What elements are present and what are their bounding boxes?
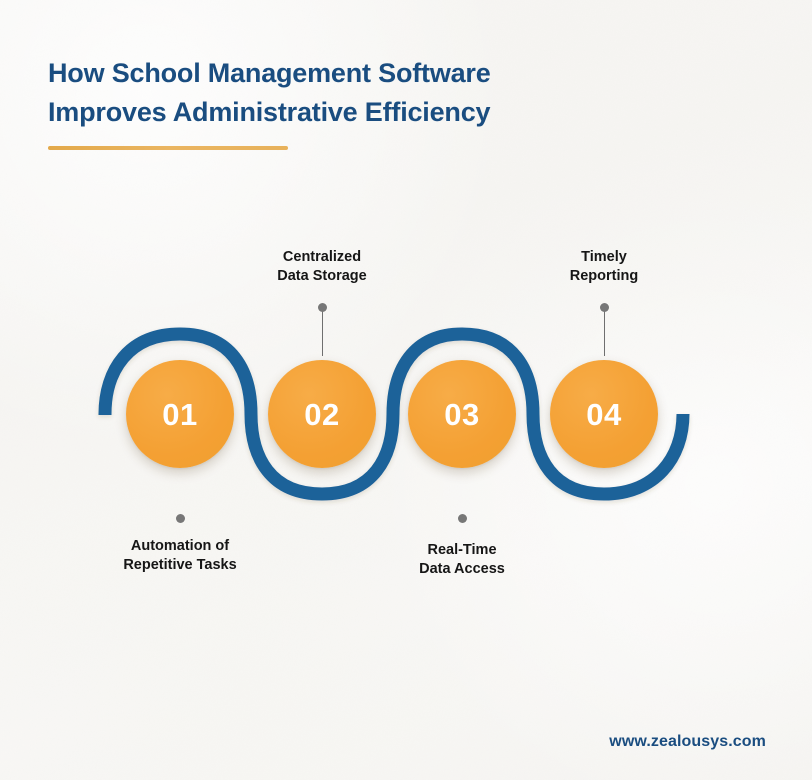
process-flow-diagram: 01 02 03 04 Automation of Repetitive Tas… xyxy=(0,230,812,610)
step-label-3-line-2: Data Access xyxy=(357,560,567,579)
step-label-2: Centralized Data Storage xyxy=(217,248,427,286)
step-number-3: 03 xyxy=(444,399,479,430)
step-number-1: 01 xyxy=(162,399,197,430)
step-label-1: Automation of Repetitive Tasks xyxy=(75,537,285,575)
step-number-2: 02 xyxy=(304,399,339,430)
step-label-4-line-2: Reporting xyxy=(499,267,709,286)
connector-dot-step-4 xyxy=(600,303,609,312)
step-circle-2[interactable]: 02 xyxy=(268,360,376,468)
step-label-3-line-1: Real-Time xyxy=(357,541,567,560)
footer-website-url[interactable]: www.zealousys.com xyxy=(609,733,766,751)
connector-dot-step-1 xyxy=(176,514,185,523)
infographic-canvas: How School Management Software Improves … xyxy=(0,0,812,780)
title-underline-rule xyxy=(48,146,288,150)
page-title-line-1: How School Management Software xyxy=(48,54,668,93)
connector-dot-step-2 xyxy=(318,303,327,312)
step-circle-1[interactable]: 01 xyxy=(126,360,234,468)
connector-line-step-4 xyxy=(604,308,605,356)
step-circle-3[interactable]: 03 xyxy=(408,360,516,468)
header: How School Management Software Improves … xyxy=(48,54,668,150)
step-label-2-line-2: Data Storage xyxy=(217,267,427,286)
step-number-4: 04 xyxy=(586,399,621,430)
step-circle-4[interactable]: 04 xyxy=(550,360,658,468)
connector-dot-step-3 xyxy=(458,514,467,523)
page-title-line-2: Improves Administrative Efficiency xyxy=(48,93,668,132)
step-label-3: Real-Time Data Access xyxy=(357,541,567,579)
step-label-2-line-1: Centralized xyxy=(217,248,427,267)
step-label-1-line-1: Automation of xyxy=(75,537,285,556)
step-label-1-line-2: Repetitive Tasks xyxy=(75,556,285,575)
connector-line-step-2 xyxy=(322,308,323,356)
step-label-4: Timely Reporting xyxy=(499,248,709,286)
step-label-4-line-1: Timely xyxy=(499,248,709,267)
